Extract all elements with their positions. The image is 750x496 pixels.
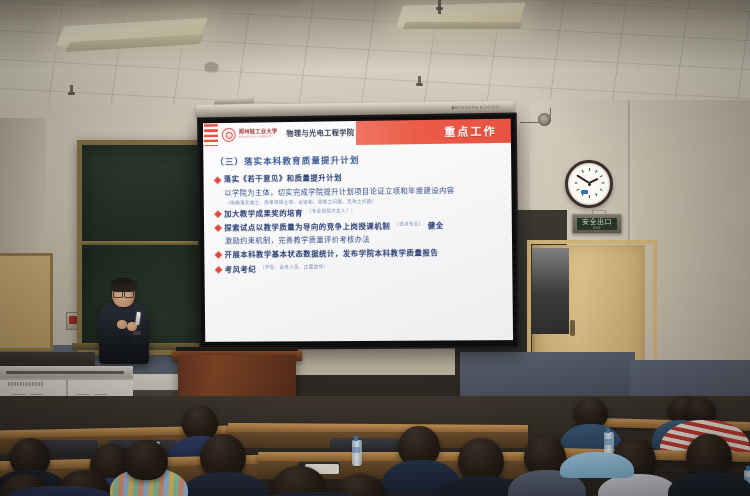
door-glass-pane — [532, 248, 569, 334]
presentation-slide: 郑州轻工业大学 ZHENGZHOU UNIVERSITY 物理与光电工程学院 重… — [203, 119, 513, 342]
bullet-continuation: 激励约束机制，完善教学质量评价考核办法 — [225, 232, 502, 246]
lecture-hall-photo: 安全出口 EXIT ▲ MITSUBISHI ELECTRIC — [0, 0, 750, 496]
presenter-hand-left — [117, 320, 127, 329]
slide-banner-title: 重点工作 — [444, 123, 497, 140]
bullet-text: 落实《若干意见》和质量提升计划 — [224, 173, 342, 184]
slide-section-title: （三）落实本科教育质量提升计划 — [215, 152, 501, 168]
bullet-strong-tail: 健全 — [428, 221, 444, 231]
slide-bullet: 考风考纪 （学生、监考人员、正面宣传） — [216, 262, 502, 275]
slide-bullet: 加大教学成果奖的培育 （专业包括文主入？） — [216, 206, 502, 219]
clock-brand-mark — [581, 190, 588, 194]
water-bottle — [352, 440, 362, 466]
projection-screen: 郑州轻工业大学 ZHENGZHOU UNIVERSITY 物理与光电工程学院 重… — [197, 113, 519, 350]
door-handle[interactable] — [570, 320, 575, 336]
bullet-inline-note: （专业包括文主入？） — [307, 208, 356, 215]
housing-brand-label: MITSUBISHI ELECTRIC — [455, 105, 500, 110]
bullet-diamond-icon — [215, 211, 221, 217]
bullet-diamond-icon — [215, 251, 221, 257]
bullet-text: 考风考纪 — [225, 264, 257, 274]
audience-shoulders — [560, 452, 634, 478]
university-logo-text: 郑州轻工业大学 ZHENGZHOU UNIVERSITY — [239, 130, 278, 139]
exit-sign-plate: 安全出口 EXIT — [577, 218, 617, 230]
emergency-exit-sign: 安全出口 EXIT — [572, 214, 622, 234]
slide-banner: 重点工作 — [356, 119, 511, 145]
presenter-hair — [110, 278, 137, 292]
clock-minute-hand — [577, 175, 590, 184]
cabinet-label — [8, 382, 44, 386]
slide-bullet: 探索试点以教学质量为导向的竞争上岗授课机制 （试点专业） 健全 — [216, 220, 502, 233]
audience-head — [124, 440, 168, 480]
bullet-inline-note: （试点专业） — [394, 221, 424, 227]
university-logo: 郑州轻工业大学 ZHENGZHOU UNIVERSITY — [218, 122, 278, 147]
wall-cabinet[interactable] — [0, 253, 53, 351]
bullet-diamond-icon — [215, 225, 221, 231]
exit-sign-label-cn: 安全出口 — [582, 219, 612, 226]
slide-bullet: 开展本科教学基本状态数据统计，发布学院本科教学质量报告 — [216, 247, 502, 260]
university-seal-icon — [222, 128, 236, 142]
presenter-glasses — [113, 291, 134, 296]
clock-face — [570, 165, 608, 203]
bullet-diamond-icon — [215, 266, 221, 272]
slide-body: （三）落实本科教育质量提升计划 落实《若干意见》和质量提升计划 以学院为主体，切… — [203, 143, 512, 275]
wainscot-center — [460, 352, 635, 400]
bullet-text: 探索试点以教学质量为导向的竞争上岗授课机制 — [224, 221, 390, 233]
wall-speaker — [538, 113, 551, 126]
front-desk-shadow — [0, 352, 95, 367]
presenter-wristwatch — [133, 331, 141, 335]
slide-bullet: 落实《若干意见》和质量提升计划 — [215, 171, 501, 185]
bullet-text: 开展本科教学基本状态数据统计，发布学院本科教学质量报告 — [225, 248, 439, 260]
slide-header: 郑州轻工业大学 ZHENGZHOU UNIVERSITY 物理与光电工程学院 重… — [203, 119, 511, 148]
bullet-diamond-icon — [214, 176, 220, 182]
blackboard-rail — [82, 241, 201, 245]
bullet-inline-note: （学生、监考人员、正面宣传） — [260, 264, 328, 271]
seat-back — [330, 438, 400, 452]
clock-center-pin — [588, 183, 591, 186]
slide-stripe-decoration — [204, 124, 218, 146]
bullet-text: 加大教学成果奖的培育 — [224, 208, 303, 219]
wall-clock — [565, 160, 613, 208]
university-name-en: ZHENGZHOU UNIVERSITY — [239, 136, 278, 139]
exit-sign-label-en: EXIT — [593, 226, 601, 230]
department-name: 物理与光电工程学院 — [286, 128, 354, 139]
